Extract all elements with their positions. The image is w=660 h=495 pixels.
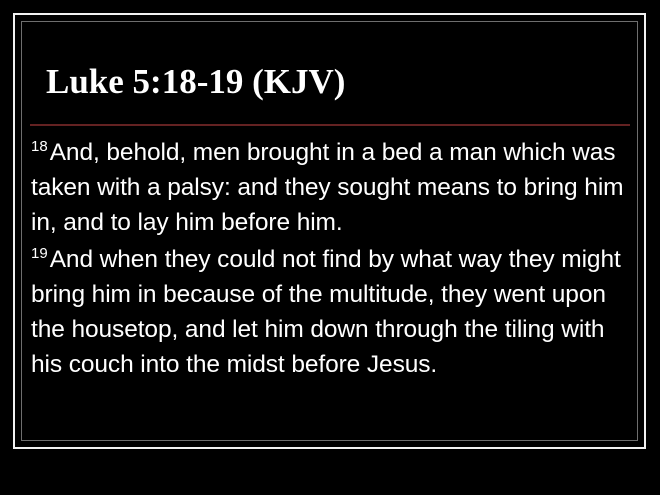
verse-number: 18 (31, 138, 50, 155)
verse-text: And when they could not find by what way… (31, 246, 621, 378)
verse-text: And, behold, men brought in a bed a man … (31, 139, 623, 236)
scripture-body: 18And, behold, men brought in a bed a ma… (31, 135, 631, 382)
slide-title: Luke 5:18-19 (KJV) (46, 60, 616, 104)
verse-paragraph: 19And when they could not find by what w… (31, 242, 631, 382)
scripture-slide: Luke 5:18-19 (KJV) 18And, behold, men br… (0, 0, 660, 495)
title-divider-rule (30, 124, 630, 126)
verse-paragraph: 18And, behold, men brought in a bed a ma… (31, 135, 631, 240)
verse-number: 19 (31, 245, 50, 262)
